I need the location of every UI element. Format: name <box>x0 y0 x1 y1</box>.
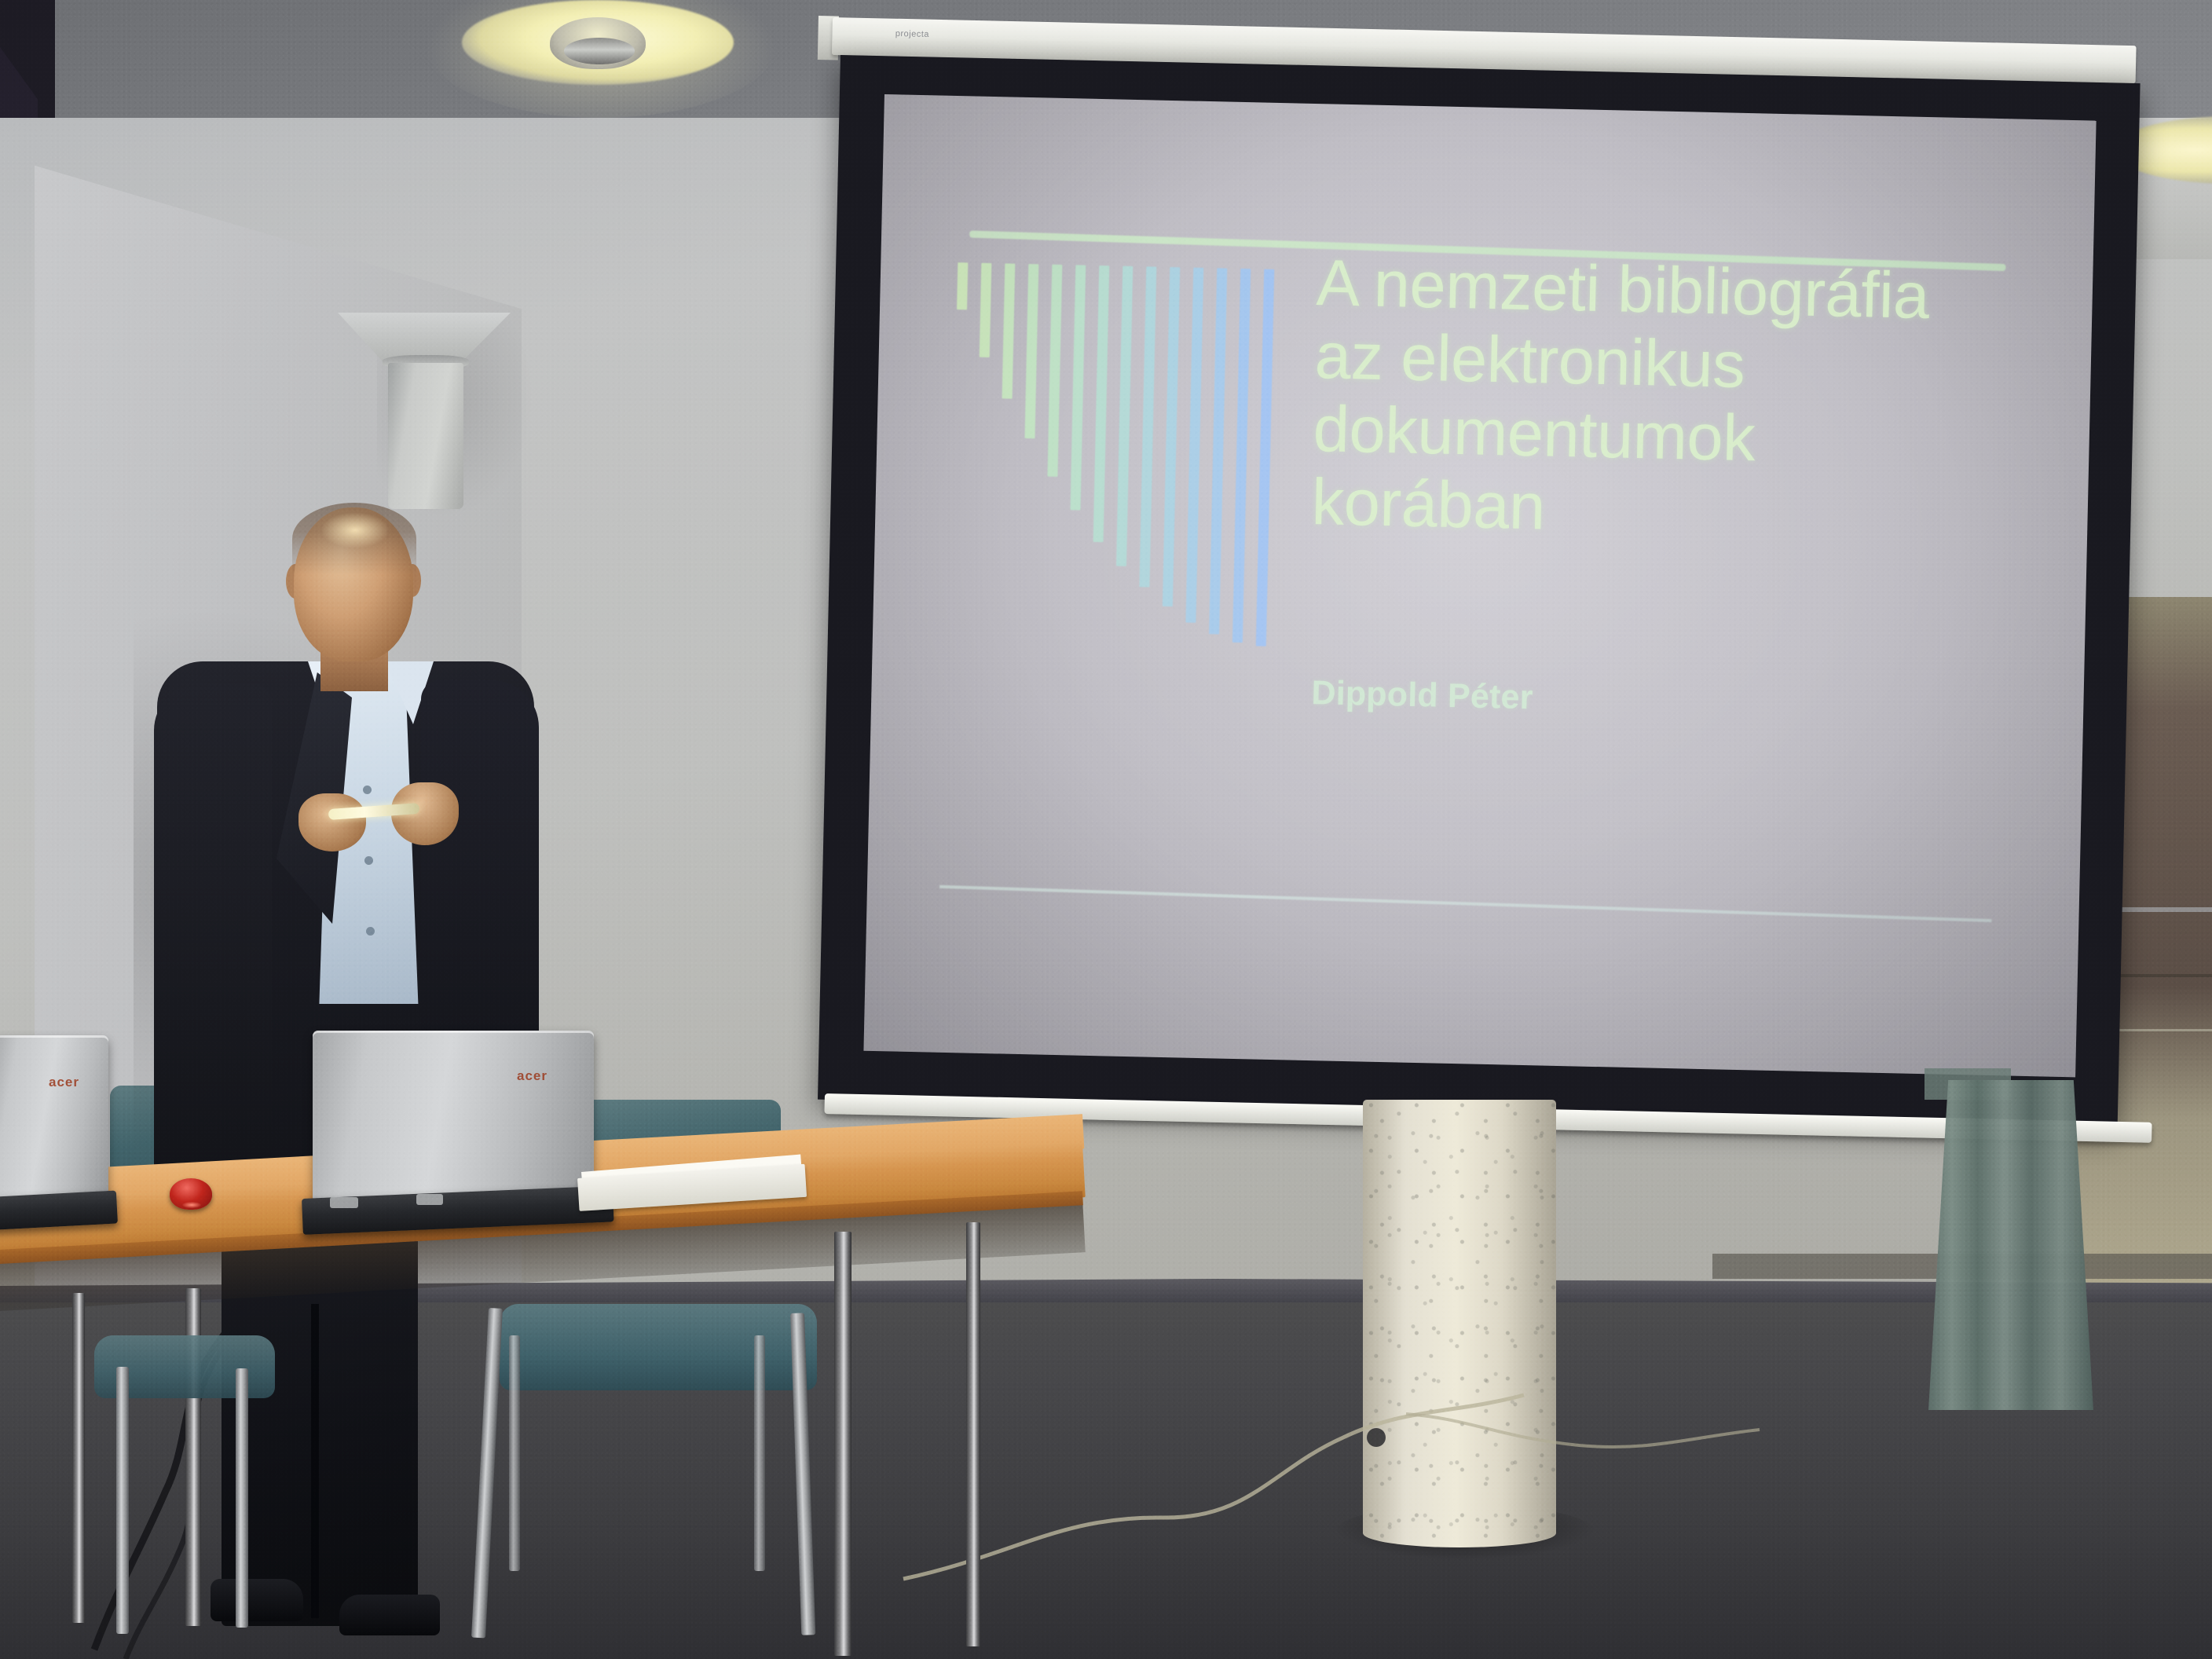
chair-leg <box>754 1335 765 1571</box>
laptop-left-brand-mark: acer <box>49 1075 79 1090</box>
logo-bar-9 <box>1163 267 1180 606</box>
logo-bar-7 <box>1116 266 1133 566</box>
logo-bar-4 <box>1047 265 1062 477</box>
laptop-left-lid[interactable] <box>0 1035 108 1208</box>
logo-bar-13 <box>1256 269 1274 646</box>
laptop-center-brand-mark: acer <box>517 1068 548 1084</box>
chair-leg <box>116 1367 129 1634</box>
slide-title: A nemzeti bibliográfiaaz elektronikusdok… <box>1311 247 2040 555</box>
chair-center-seat[interactable] <box>500 1304 817 1390</box>
presentation-room-photo: projecta A nemzeti bibliográfiaaz elektr… <box>0 0 2212 1659</box>
logo-bar-11 <box>1209 268 1227 634</box>
window-curtain[interactable] <box>1928 1080 2093 1410</box>
ascending-bars-logo <box>950 262 1295 646</box>
chair-leg <box>236 1368 248 1628</box>
logo-bar-8 <box>1139 266 1156 587</box>
table-leg <box>966 1222 980 1646</box>
screen-brand-mark: projecta <box>895 28 943 40</box>
logo-bar-10 <box>1185 268 1203 623</box>
shirt-button <box>364 856 373 865</box>
floor-cable-right <box>903 1320 1767 1618</box>
chair-leg <box>509 1335 520 1571</box>
laptop-left-base[interactable] <box>0 1191 118 1230</box>
logo-bar-1 <box>980 263 992 357</box>
slide-rule-bottom <box>939 885 1991 922</box>
logo-bar-5 <box>1071 265 1086 510</box>
presenter-shoe-left <box>211 1579 303 1621</box>
logo-bar-2 <box>1002 263 1016 398</box>
table-leg <box>834 1232 851 1656</box>
shirt-button <box>363 786 372 794</box>
laptop-center-lid[interactable] <box>313 1031 594 1214</box>
logo-bar-0 <box>957 262 968 309</box>
shirt-button <box>366 927 375 936</box>
logo-bar-6 <box>1093 266 1110 542</box>
wall-sconce-body <box>388 363 463 509</box>
presenter-head-highlight <box>320 512 390 548</box>
slide-subtitle: Dippold Péter <box>1311 674 1877 725</box>
ceiling-downlight-reflector <box>564 38 635 64</box>
presenter-leg-split <box>311 1304 319 1618</box>
laptop-hinge <box>416 1194 443 1205</box>
mouse-led-glow <box>182 1202 201 1208</box>
presenter-arm-left <box>154 683 272 1170</box>
table-leg <box>72 1293 85 1623</box>
projected-slide: A nemzeti bibliográfiaaz elektronikusdok… <box>863 94 2096 1077</box>
logo-bar-3 <box>1024 264 1038 438</box>
presenter-hand-left <box>298 793 366 851</box>
presenter-shoe-right <box>339 1595 440 1635</box>
logo-bar-12 <box>1232 269 1251 643</box>
slide-title-line-3: korában <box>1311 466 2035 555</box>
laptop-hinge <box>330 1197 358 1208</box>
